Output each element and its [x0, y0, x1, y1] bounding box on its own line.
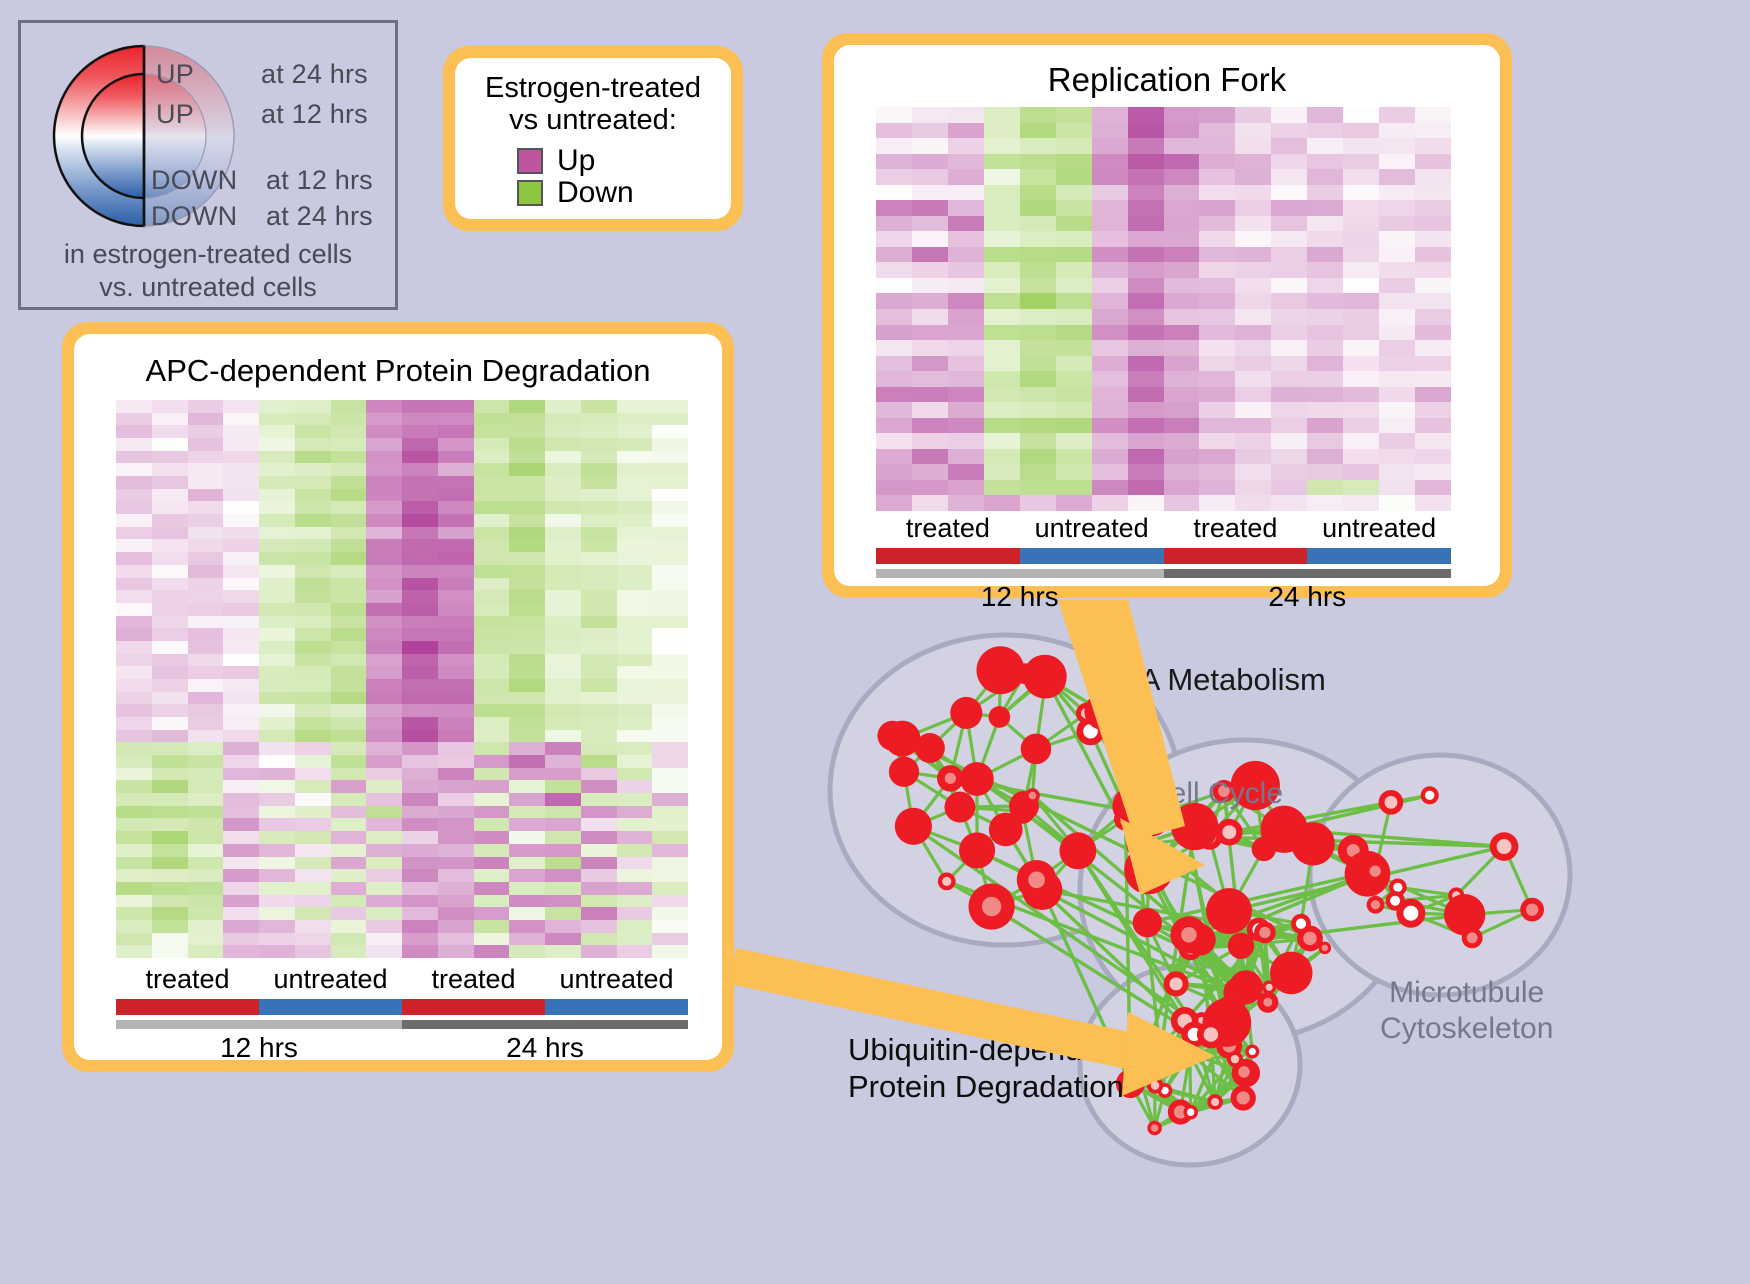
network-node-outer: [976, 646, 1024, 694]
heatmap-cell: [509, 793, 545, 806]
heatmap-cell: [331, 730, 367, 743]
heatmap-cell: [223, 641, 259, 654]
heatmap-cell: [581, 768, 617, 781]
heatmap-cell: [402, 438, 438, 451]
heatmap-cell: [259, 730, 295, 743]
heatmap-cell: [116, 920, 152, 933]
color-key-box: UP at 24 hrs UP at 12 hrs DOWN at 12 hrs…: [18, 20, 398, 310]
network-node[interactable]: [1379, 790, 1404, 815]
heatmap-cell: [152, 704, 188, 717]
network-node[interactable]: [937, 765, 964, 792]
heatmap-cell: [295, 552, 331, 565]
heatmap-cell: [509, 527, 545, 540]
heatmap-cell: [188, 451, 224, 464]
heatmap-cell: [912, 371, 948, 387]
network-node[interactable]: [1059, 832, 1096, 869]
heatmap-cell: [295, 730, 331, 743]
network-node[interactable]: [1231, 1085, 1256, 1110]
heatmap-cell: [402, 413, 438, 426]
heatmap-cell: [912, 387, 948, 403]
network-node-outer: [960, 762, 994, 796]
heatmap-cell: [1020, 371, 1056, 387]
heatmap-cell: [295, 463, 331, 476]
heatmap-cell: [1164, 216, 1200, 232]
network-node[interactable]: [976, 646, 1024, 694]
network-node[interactable]: [960, 762, 994, 796]
heatmap-cell: [1415, 356, 1451, 372]
heatmap-cell: [188, 679, 224, 692]
heatmap-cell: [223, 844, 259, 857]
heatmap-cell: [116, 552, 152, 565]
legend-label-down: Down: [557, 178, 634, 208]
heatmap-cell: [188, 844, 224, 857]
heatmap-cell: [1020, 402, 1056, 418]
heatmap-cell: [295, 590, 331, 603]
heatmap-cell: [366, 438, 402, 451]
heatmap-cell: [331, 590, 367, 603]
network-node-outer: [895, 808, 932, 845]
heatmap-cell: [1199, 231, 1235, 247]
network-node[interactable]: [1197, 1021, 1225, 1049]
network-node-inner: [1151, 1081, 1160, 1090]
network-node[interactable]: [950, 697, 982, 729]
heatmap-cell: [912, 402, 948, 418]
network-node[interactable]: [1164, 971, 1189, 996]
heatmap-cell: [1307, 231, 1343, 247]
heatmap-cell: [1415, 418, 1451, 434]
network-node[interactable]: [1207, 1094, 1223, 1110]
heatmap-cell: [223, 654, 259, 667]
network-node[interactable]: [1396, 899, 1425, 928]
heatmap-cell: [1379, 200, 1415, 216]
network-node[interactable]: [1026, 658, 1067, 699]
heatmap-cell: [984, 200, 1020, 216]
heatmap-cell: [366, 895, 402, 908]
network-node[interactable]: [1367, 896, 1385, 914]
heatmap-cell: [617, 742, 653, 755]
heatmap-cell: [617, 578, 653, 591]
heatmap-cell: [152, 654, 188, 667]
heatmap-cell: [331, 831, 367, 844]
heatmap-cell: [912, 278, 948, 294]
network-node[interactable]: [1444, 894, 1485, 935]
network-node[interactable]: [1257, 992, 1278, 1013]
heatmap-cell: [1164, 433, 1200, 449]
heatmap-cell: [152, 425, 188, 438]
heatmap-cell: [1343, 262, 1379, 278]
heatmap-cell: [1128, 495, 1164, 511]
heatmap-cell: [1379, 449, 1415, 465]
heatmap-cell: [1415, 480, 1451, 496]
heatmap-cell: [438, 895, 474, 908]
heatmap-cell: [1164, 480, 1200, 496]
heatmap-cell: [1235, 123, 1271, 139]
heatmap-cell: [331, 692, 367, 705]
heatmap-cell: [402, 501, 438, 514]
heatmap-cell: [152, 565, 188, 578]
network-node[interactable]: [1520, 898, 1544, 922]
heatmap-cell: [116, 895, 152, 908]
heatmap-cell: [438, 565, 474, 578]
cluster-label-line1: Ubiquitin-dependent: [848, 1032, 1126, 1069]
heatmap-cell: [948, 216, 984, 232]
heatmap-cell: [1235, 371, 1271, 387]
heatmap-cell: [188, 590, 224, 603]
replication-fork-condition-labels: treated untreated treated untreated: [876, 513, 1451, 544]
network-node[interactable]: [1233, 1061, 1255, 1083]
heatmap-cell: [366, 616, 402, 629]
network-node[interactable]: [1291, 822, 1334, 865]
heatmap-cell: [259, 806, 295, 819]
heatmap-cell: [259, 869, 295, 882]
heatmap-cell: [1415, 309, 1451, 325]
key-row-down-24-time: at 24 hrs: [266, 201, 373, 232]
heatmap-cell: [1343, 154, 1379, 170]
network-node[interactable]: [944, 792, 975, 823]
network-node[interactable]: [1133, 908, 1162, 937]
heatmap-cell: [188, 641, 224, 654]
heatmap-cell: [474, 666, 510, 679]
heatmap-cell: [948, 356, 984, 372]
heatmap-cell: [116, 590, 152, 603]
heatmap-cell: [1056, 402, 1092, 418]
network-node-outer: [1270, 952, 1313, 995]
heatmap-cell: [1020, 247, 1056, 263]
heatmap-cell: [1056, 293, 1092, 309]
heatmap-cell: [474, 641, 510, 654]
heatmap-cell: [259, 565, 295, 578]
network-node[interactable]: [1017, 860, 1057, 900]
heatmap-cell: [1271, 356, 1307, 372]
heatmap-cell: [331, 578, 367, 591]
heatmap-cell: [948, 278, 984, 294]
network-node[interactable]: [889, 757, 919, 787]
heatmap-cell: [1164, 387, 1200, 403]
heatmap-cell: [223, 514, 259, 527]
heatmap-cell: [474, 413, 510, 426]
heatmap-cell: [1092, 216, 1128, 232]
heatmap-cell: [1307, 433, 1343, 449]
network-node[interactable]: [959, 832, 995, 868]
heatmap-cell: [1415, 169, 1451, 185]
heatmap-cell: [876, 356, 912, 372]
heatmap-cell: [1415, 262, 1451, 278]
network-node[interactable]: [989, 706, 1011, 728]
heatmap-cell: [331, 844, 367, 857]
heatmap-cell: [295, 933, 331, 946]
heatmap-cell: [876, 402, 912, 418]
heatmap-cell: [1164, 402, 1200, 418]
network-diagram: DNA Metabolism Cell Cycle Microtubule Cy…: [790, 600, 1750, 1279]
network-node-inner: [1204, 1027, 1218, 1041]
heatmap-cell: [581, 463, 617, 476]
heatmap-cell: [223, 400, 259, 413]
heatmap-cell: [1307, 371, 1343, 387]
network-node[interactable]: [1183, 1047, 1197, 1061]
heatmap-cell: [912, 154, 948, 170]
heatmap-cell: [223, 882, 259, 895]
heatmap-cell: [1307, 356, 1343, 372]
heatmap-cell: [1056, 216, 1092, 232]
network-node[interactable]: [1270, 952, 1313, 995]
heatmap-cell: [1199, 107, 1235, 123]
heatmap-cell: [545, 552, 581, 565]
heatmap-cell: [259, 793, 295, 806]
heatmap-cell: [1199, 464, 1235, 480]
heatmap-cell: [617, 616, 653, 629]
heatmap-cell: [1379, 340, 1415, 356]
heatmap-cell: [876, 340, 912, 356]
heatmap-cell: [581, 844, 617, 857]
network-node[interactable]: [1462, 927, 1483, 948]
network-node[interactable]: [1490, 832, 1519, 861]
heatmap-cell: [1307, 325, 1343, 341]
heatmap-cell: [545, 654, 581, 667]
network-node[interactable]: [989, 813, 1023, 847]
network-node[interactable]: [884, 721, 920, 757]
replication-fork-condition-bar: [876, 548, 1451, 564]
network-node[interactable]: [1084, 693, 1121, 730]
heatmap-cell: [912, 356, 948, 372]
heatmap-cell: [545, 730, 581, 743]
network-node[interactable]: [969, 883, 1015, 929]
heatmap-cell: [366, 666, 402, 679]
heatmap-cell: [545, 463, 581, 476]
network-node-outer: [989, 813, 1023, 847]
heatmap-cell: [223, 793, 259, 806]
heatmap-cell: [617, 717, 653, 730]
heatmap-cell: [984, 107, 1020, 123]
heatmap-cell: [1056, 185, 1092, 201]
heatmap-cell: [984, 278, 1020, 294]
heatmap-cell: [1020, 464, 1056, 480]
heatmap-cell: [116, 857, 152, 870]
heatmap-cell: [581, 945, 617, 958]
heatmap-cell: [1199, 216, 1235, 232]
network-node[interactable]: [1319, 942, 1332, 955]
network-node-outer: [884, 721, 920, 757]
heatmap-cell: [509, 755, 545, 768]
heatmap-cell: [1092, 247, 1128, 263]
heatmap-cell: [617, 451, 653, 464]
network-node-inner: [1238, 1066, 1250, 1078]
heatmap-cell: [545, 844, 581, 857]
heatmap-cell: [652, 527, 688, 540]
network-node[interactable]: [1291, 914, 1311, 934]
heatmap-cell: [1092, 231, 1128, 247]
heatmap-cell: [402, 666, 438, 679]
heatmap-cell: [366, 869, 402, 882]
heatmap-cell: [1271, 464, 1307, 480]
heatmap-cell: [1343, 138, 1379, 154]
heatmap-cell: [652, 920, 688, 933]
heatmap-cell: [366, 780, 402, 793]
network-node[interactable]: [1216, 819, 1243, 846]
heatmap-cell: [331, 920, 367, 933]
heatmap-cell: [1307, 216, 1343, 232]
heatmap-cell: [1164, 325, 1200, 341]
heatmap-cell: [366, 844, 402, 857]
heatmap-cell: [1379, 169, 1415, 185]
network-node[interactable]: [1021, 734, 1052, 765]
heatmap-cell: [223, 425, 259, 438]
heatmap-cell: [402, 857, 438, 870]
heatmap-cell: [912, 449, 948, 465]
heatmap-cell: [581, 742, 617, 755]
heatmap-cell: [509, 603, 545, 616]
heatmap-cell: [331, 425, 367, 438]
network-node[interactable]: [1147, 1077, 1163, 1093]
heatmap-cell: [1343, 278, 1379, 294]
heatmap-cell: [402, 704, 438, 717]
heatmap-cell: [1128, 247, 1164, 263]
heatmap-cell: [948, 231, 984, 247]
heatmap-cell: [1271, 309, 1307, 325]
network-node-inner: [1263, 998, 1272, 1007]
heatmap-cell: [1128, 293, 1164, 309]
heatmap-cell: [152, 945, 188, 958]
network-node-outer: [1059, 832, 1096, 869]
network-node[interactable]: [1254, 922, 1276, 944]
heatmap-cell: [188, 920, 224, 933]
heatmap-cell: [474, 704, 510, 717]
heatmap-cell: [1092, 371, 1128, 387]
heatmap-cell: [295, 539, 331, 552]
heatmap-cell: [948, 433, 984, 449]
network-node[interactable]: [895, 808, 932, 845]
heatmap-cell: [474, 831, 510, 844]
heatmap-cell: [366, 945, 402, 958]
heatmap-cell: [259, 717, 295, 730]
heatmap-cell: [1343, 325, 1379, 341]
heatmap-cell: [1092, 169, 1128, 185]
heatmap-cell: [116, 780, 152, 793]
heatmap-cell: [912, 293, 948, 309]
heatmap-cell: [617, 413, 653, 426]
heatmap-cell: [259, 945, 295, 958]
heatmap-cell: [617, 539, 653, 552]
heatmap-cell: [1056, 480, 1092, 496]
heatmap-cell: [1128, 449, 1164, 465]
heatmap-cell: [1343, 402, 1379, 418]
heatmap-cell: [1343, 293, 1379, 309]
heatmap-cell: [474, 780, 510, 793]
heatmap-cell: [1343, 464, 1379, 480]
network-node[interactable]: [1170, 916, 1207, 953]
heatmap-cell: [1271, 123, 1307, 139]
heatmap-cell: [545, 578, 581, 591]
heatmap-cell: [1235, 340, 1271, 356]
heatmap-cell: [1379, 418, 1415, 434]
heatmap-cell: [1128, 123, 1164, 139]
heatmap-cell: [1271, 433, 1307, 449]
heatmap-cell: [545, 425, 581, 438]
heatmap-cell: [438, 692, 474, 705]
time-label: 24 hrs: [402, 1032, 688, 1064]
heatmap-cell: [509, 514, 545, 527]
heatmap-cell: [223, 413, 259, 426]
heatmap-cell: [1343, 123, 1379, 139]
network-node[interactable]: [1025, 788, 1040, 803]
heatmap-cell: [912, 169, 948, 185]
heatmap-cell: [1235, 154, 1271, 170]
heatmap-cell: [331, 654, 367, 667]
heatmap-cell: [1020, 154, 1056, 170]
heatmap-cell: [402, 476, 438, 489]
heatmap-cell: [1415, 185, 1451, 201]
heatmap-cell: [652, 742, 688, 755]
heatmap-cell: [581, 831, 617, 844]
heatmap-cell: [1415, 107, 1451, 123]
network-node-inner: [1390, 896, 1400, 906]
heatmap-cell: [188, 768, 224, 781]
heatmap-cell: [1379, 216, 1415, 232]
heatmap-cell: [188, 400, 224, 413]
heatmap-cell: [581, 920, 617, 933]
heatmap-cell: [1092, 464, 1128, 480]
heatmap-cell: [295, 895, 331, 908]
heatmap-cell: [509, 463, 545, 476]
heatmap-cell: [223, 945, 259, 958]
heatmap-cell: [474, 438, 510, 451]
heatmap-cell: [152, 692, 188, 705]
heatmap-cell: [652, 489, 688, 502]
heatmap-cell: [1164, 449, 1200, 465]
heatmap-cell: [1128, 262, 1164, 278]
heatmap-cell: [402, 869, 438, 882]
heatmap-cell: [545, 933, 581, 946]
network-node[interactable]: [1245, 1045, 1259, 1059]
heatmap-cell: [1092, 433, 1128, 449]
heatmap-cell: [1092, 262, 1128, 278]
heatmap-cell: [617, 869, 653, 882]
heatmap-cell: [438, 603, 474, 616]
heatmap-cell: [1199, 371, 1235, 387]
heatmap-cell: [438, 438, 474, 451]
network-node[interactable]: [1421, 786, 1439, 804]
heatmap-cell: [116, 679, 152, 692]
network-node[interactable]: [1364, 860, 1386, 882]
heatmap-cell: [509, 818, 545, 831]
network-node[interactable]: [1228, 933, 1254, 959]
heatmap-cell: [509, 907, 545, 920]
heatmap-cell: [984, 495, 1020, 511]
heatmap-cell: [581, 692, 617, 705]
heatmap-cell: [366, 831, 402, 844]
heatmap-cell: [509, 730, 545, 743]
heatmap-cell: [474, 742, 510, 755]
heatmap-cell: [152, 818, 188, 831]
network-node[interactable]: [1206, 888, 1252, 934]
network-node[interactable]: [938, 873, 956, 891]
key-row-up-12-label: UP: [156, 99, 194, 130]
heatmap-cell: [652, 793, 688, 806]
heatmap-cell: [948, 262, 984, 278]
heatmap-cell: [984, 356, 1020, 372]
heatmap-cell: [617, 806, 653, 819]
heatmap-cell: [581, 527, 617, 540]
heatmap-cell: [259, 438, 295, 451]
heatmap-cell: [438, 780, 474, 793]
heatmap-cell: [474, 501, 510, 514]
network-node-outer: [1444, 894, 1485, 935]
heatmap-cell: [259, 514, 295, 527]
heatmap-cell: [295, 831, 331, 844]
network-node[interactable]: [1147, 1121, 1162, 1136]
network-node-inner: [1133, 837, 1148, 852]
heatmap-cell: [474, 692, 510, 705]
network-node[interactable]: [1183, 1105, 1198, 1120]
